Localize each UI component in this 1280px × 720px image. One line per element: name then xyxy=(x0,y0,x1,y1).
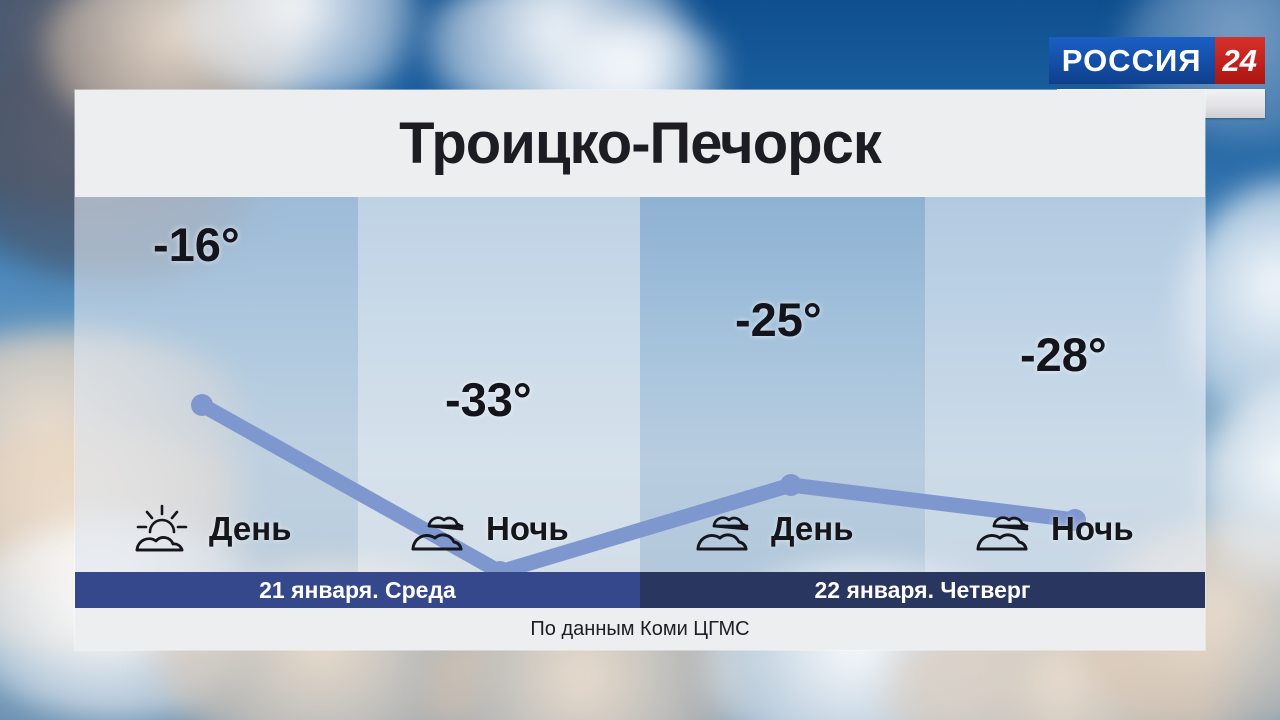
logo-main: РОССИЯ 24 xyxy=(1049,37,1265,84)
forecast-slot: День xyxy=(695,504,853,554)
source-bar: По данным Коми ЦГМС xyxy=(75,608,1205,650)
forecast-slot: День xyxy=(133,504,291,554)
logo-channel-number: 24 xyxy=(1215,37,1265,84)
source-label: По данным Коми ЦГМС xyxy=(530,618,749,641)
forecast-slot: Ночь xyxy=(975,504,1134,554)
temperature-line xyxy=(202,405,1075,572)
day-label: 22 января. Четверг xyxy=(640,572,1205,608)
slot-time-label: Ночь xyxy=(1051,510,1134,548)
slot-time-label: День xyxy=(209,510,291,548)
slot-time-label: Ночь xyxy=(486,510,569,548)
temperature-value: -25° xyxy=(735,292,822,347)
data-point-marker xyxy=(191,394,213,416)
day-bar: 21 января. Среда 22 января. Четверг xyxy=(75,572,1205,608)
day-label: 21 января. Среда xyxy=(75,572,640,608)
temperature-value: -33° xyxy=(445,372,532,427)
forecast-card: Троицко-Печорск -16° -33° -25° -28° xyxy=(75,90,1205,650)
sun-behind-cloud-icon xyxy=(133,504,195,554)
title-bar: Троицко-Печорск xyxy=(75,90,1205,197)
temperature-value: -16° xyxy=(153,217,240,272)
temperature-chart: -16° -33° -25° -28° День xyxy=(75,197,1205,572)
data-point-marker xyxy=(780,474,802,496)
logo-channel-name: РОССИЯ xyxy=(1049,37,1215,84)
temperature-value: -28° xyxy=(1020,327,1107,382)
page-title: Троицко-Печорск xyxy=(399,110,881,177)
cloudy-icon xyxy=(695,504,757,554)
slot-time-label: День xyxy=(771,510,853,548)
forecast-slot: Ночь xyxy=(410,504,569,554)
cloudy-icon xyxy=(975,504,1037,554)
cloudy-icon xyxy=(410,504,472,554)
